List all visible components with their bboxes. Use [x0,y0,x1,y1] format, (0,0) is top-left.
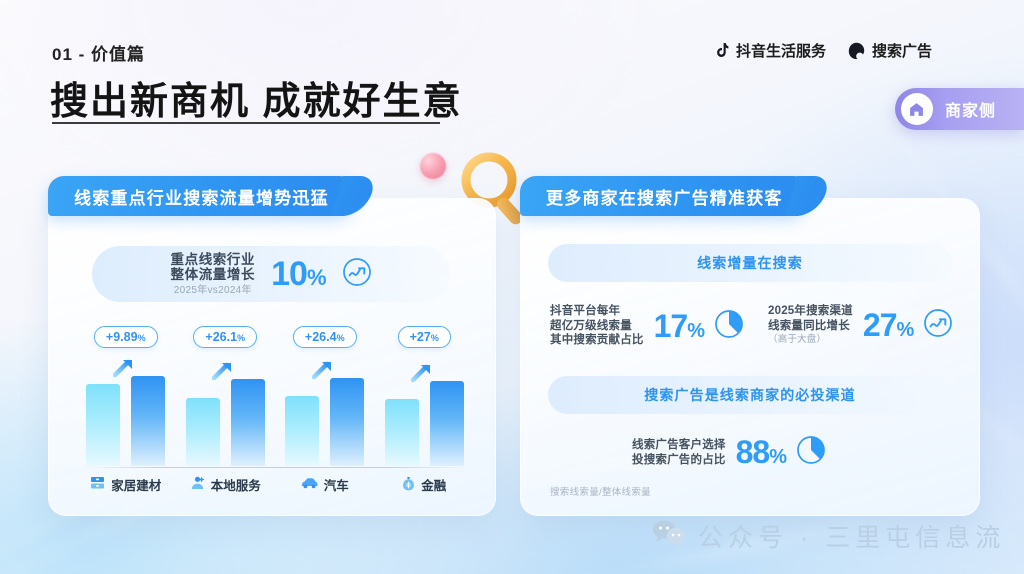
douyin-note-icon [712,42,729,60]
summary-line-2: 整体流量增长 [171,267,256,283]
chart-category-1: +9.89%家居建材 [76,326,176,494]
growth-arrow-icon [113,356,135,378]
search-ad-icon [848,42,865,59]
stat-lines: 2025年搜索渠道 线索量同比增长 （高于大盘） [768,304,853,347]
bar-2025 [231,379,265,466]
banner-label: 线索增量在搜索 [697,253,803,273]
trend-up-circle-icon [342,257,372,292]
growth-arrow-icon [411,361,433,383]
right-card: 更多商家在搜索广告精准获客 线索增量在搜索 抖音平台每年 超亿万级线索量 其中搜… [520,176,980,516]
bar-2025 [430,381,464,467]
stat-value: 27% [863,307,913,344]
brand-search-ad: 搜索广告 [848,40,932,61]
banner-lead-growth: 线索增量在搜索 [548,244,952,282]
pie-chart-circle-icon [796,435,826,470]
growth-badge: +26.1% [193,326,257,348]
title-underline [52,122,440,124]
right-card-title: 更多商家在搜索广告精准获客 [546,184,783,209]
brand-label: 搜索广告 [872,40,932,61]
stat-line-1: 抖音平台每年 [550,304,644,319]
growth-arrow-icon [312,358,334,380]
bar-2025 [330,378,364,466]
stat-line-2: 超亿万级线索量 [550,319,644,334]
chart-category-label: 金融 [402,475,446,494]
stat-lines: 线索广告客户选择 投搜索广告的占比 [632,438,726,467]
home-icon [901,93,933,125]
category-name: 汽车 [324,475,349,494]
left-card: 线索重点行业搜索流量增势迅猛 重点线索行业 整体流量增长 2025年vs2024… [48,176,496,516]
growth-badge: +26.4% [293,326,357,348]
chart-category-label: 汽车 [301,475,349,494]
bar-chart: +9.89%家居建材+26.1%本地服务+26.4%汽车+27%金融 [76,326,474,494]
left-card-header: 线索重点行业搜索流量增势迅猛 [48,176,355,216]
brand-douyin-life-service: 抖音生活服务 [712,40,826,61]
bar-2024 [86,384,120,466]
category-name: 金融 [421,475,446,494]
bar-2024 [285,396,319,466]
summary-subnote: 2025年vs2024年 [171,285,256,297]
local-service-icon [190,476,205,493]
chart-category-2: +26.1%本地服务 [176,326,276,494]
summary-pill: 重点线索行业 整体流量增长 2025年vs2024年 10% [92,246,450,302]
chart-category-3: +26.4%汽车 [275,326,375,494]
growth-arrow-icon [212,359,234,381]
stat-line-2: 线索量同比增长 [768,319,853,334]
side-badge-label: 商家侧 [945,97,996,121]
right-card-header: 更多商家在搜索广告精准获客 [520,176,809,216]
page-title: 搜出新商机 成就好生意 [50,70,463,125]
right-card-footnote: 搜索线索量/整体线索量 [550,484,651,498]
section-kicker: 01 - 价值篇 [52,40,145,65]
car-icon [301,477,318,492]
wechat-icon [652,519,686,554]
banner-must-buy-channel: 搜索广告是线索商家的必投渠道 [548,376,952,414]
category-name: 本地服务 [211,475,261,494]
summary-line-1: 重点线索行业 [171,252,256,268]
growth-badge: +9.89% [94,326,158,348]
stat-line-1: 线索广告客户选择 [632,438,726,453]
watermark-label: 公众号 · 三里屯信息流 [698,518,1005,554]
stat-line-2: 投搜索广告的占比 [632,453,726,468]
watermark: 公众号 · 三里屯信息流 [652,518,1005,554]
stat-line-1: 2025年搜索渠道 [768,304,853,319]
growth-badge: +27% [398,326,451,348]
chart-category-4: +27%金融 [375,326,475,494]
furniture-icon [90,476,105,493]
stat-lines: 抖音平台每年 超亿万级线索量 其中搜索贡献占比 [550,304,644,348]
brand-label: 抖音生活服务 [736,40,826,61]
bar-2024 [186,398,220,466]
trend-up-circle-icon [923,308,953,343]
stat-value: 17% [654,308,704,345]
side-badge-merchant[interactable]: 商家侧 [895,88,1024,130]
stat-block-27: 2025年搜索渠道 线索量同比增长 （高于大盘） 27% [768,304,953,347]
pie-chart-circle-icon [714,309,744,344]
finance-icon [402,476,415,494]
bar-2024 [385,399,419,466]
left-card-title: 线索重点行业搜索流量增势迅猛 [74,184,329,209]
stat-value: 88% [736,434,786,471]
chart-category-label: 家居建材 [90,475,161,494]
stat-block-88: 线索广告客户选择 投搜索广告的占比 88% [632,434,826,471]
banner-label: 搜索广告是线索商家的必投渠道 [644,385,855,405]
brand-bar: 抖音生活服务 搜索广告 [712,40,932,61]
slide-root: 01 - 价值篇 搜出新商机 成就好生意 抖音生活服务 搜索广告 商家侧 [0,0,1024,574]
summary-value: 10% [271,255,325,294]
bar-2025 [131,376,165,466]
stat-note: （高于大盘） [768,334,853,346]
summary-text: 重点线索行业 整体流量增长 2025年vs2024年 [171,252,256,297]
chart-category-label: 本地服务 [190,475,261,494]
stat-line-3: 其中搜索贡献占比 [550,333,644,348]
stat-block-17: 抖音平台每年 超亿万级线索量 其中搜索贡献占比 17% [550,304,744,348]
category-name: 家居建材 [111,475,161,494]
